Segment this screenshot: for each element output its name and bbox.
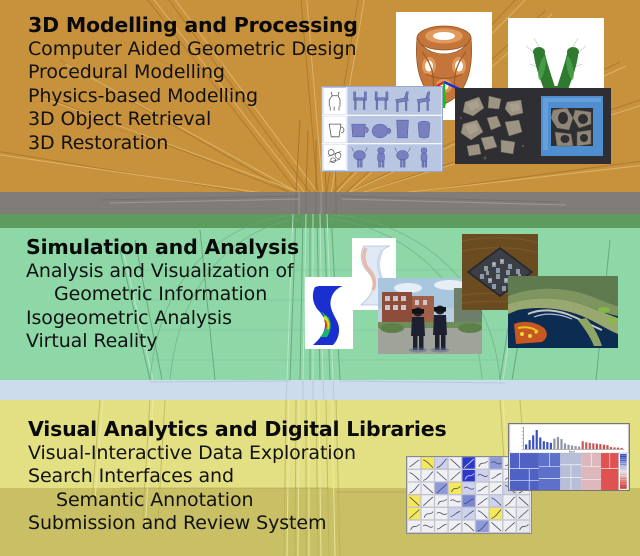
section-simulation-line-2: Geometric Information: [26, 283, 299, 306]
poster-canvas: 3D Modelling and Processing Computer Aid…: [0, 0, 640, 556]
section-modelling-line-1: Computer Aided Geometric Design: [28, 38, 358, 61]
section-analytics-line-2: Search Interfaces and: [28, 465, 446, 488]
section-analytics-line-1: Visual-Interactive Data Exploration: [28, 442, 446, 465]
geospatial-map-thumbnail: [508, 276, 618, 348]
section-simulation-line-1: Analysis and Visualization of: [26, 260, 299, 283]
section-analytics-text: Visual Analytics and Digital Libraries V…: [28, 418, 446, 536]
section-modelling-line-3: Physics-based Modelling: [28, 85, 358, 108]
section-simulation-text: Simulation and Analysis Analysis and Vis…: [26, 236, 299, 354]
bar-chart-treemap-thumbnail: Rank: [508, 423, 630, 491]
svg-text:Rank: Rank: [569, 450, 576, 454]
section-analytics-line-4: Submission and Review System: [28, 512, 446, 535]
pottery-fragments-thumbnail: [455, 88, 533, 164]
background-band-blue-divider: [0, 380, 640, 400]
chair-fem-stress-thumbnail: [305, 277, 353, 349]
section-modelling-text: 3D Modelling and Processing Computer Aid…: [28, 14, 358, 155]
section-analytics-line-3: Semantic Annotation: [28, 489, 446, 512]
section-analytics-title: Visual Analytics and Digital Libraries: [28, 418, 446, 442]
section-simulation-line-3: Isogeometric Analysis: [26, 307, 299, 330]
section-modelling-line-4: 3D Object Retrieval: [28, 108, 358, 131]
background-green-floor-strip: [0, 214, 640, 228]
scan-reconstruction-thumbnail: [533, 88, 611, 164]
section-simulation-title: Simulation and Analysis: [26, 236, 299, 260]
section-modelling-line-2: Procedural Modelling: [28, 61, 358, 84]
section-modelling-title: 3D Modelling and Processing: [28, 14, 358, 38]
background-band-gray-divider: [0, 192, 640, 214]
section-modelling-line-5: 3D Restoration: [28, 132, 358, 155]
section-simulation-line-4: Virtual Reality: [26, 330, 299, 353]
